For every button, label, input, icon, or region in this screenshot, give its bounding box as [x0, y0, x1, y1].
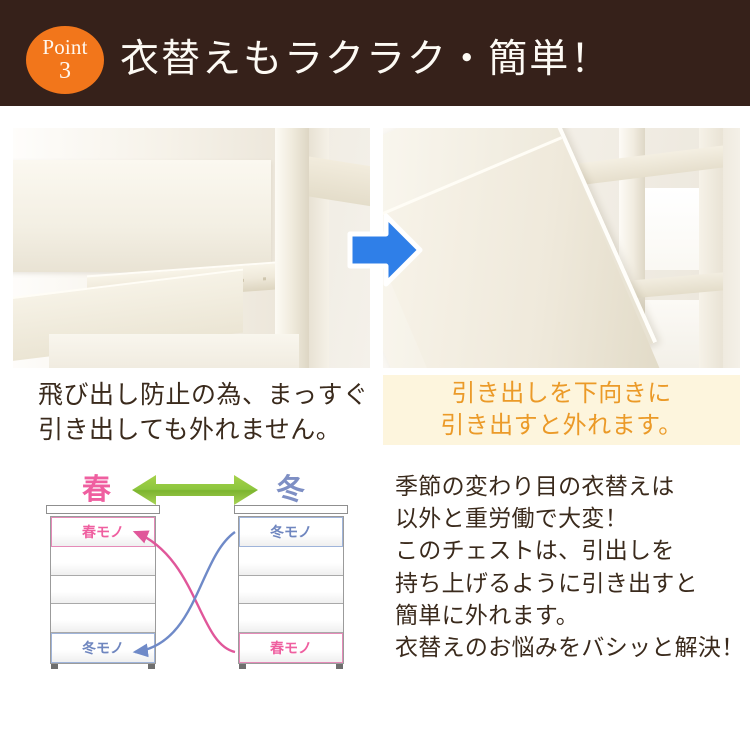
point-badge-number: 3	[59, 59, 71, 83]
season-label-winter: 冬	[276, 466, 305, 508]
drawer-label: 冬モノ	[270, 522, 312, 542]
drawer-row[interactable]: 春モノ	[239, 633, 343, 663]
season-swap-diagram: 春 冬 春モノ	[30, 462, 375, 682]
drawer-row[interactable]: 冬モノ	[239, 517, 343, 547]
drawer-label: 春モノ	[82, 522, 124, 542]
blue-right-arrow-icon	[346, 208, 424, 292]
chest-body: 冬モノ 春モノ	[238, 516, 344, 664]
body-text-line-2: 以外と重労働で大変！	[395, 502, 745, 534]
season-label-spring: 春	[82, 466, 111, 508]
chest-feet	[50, 664, 156, 669]
caption-left: 飛び出し防止の為、まっすぐ 引き出しても外れません。	[38, 378, 378, 447]
chest-spring: 春モノ 冬モノ	[50, 514, 156, 666]
chest-feet	[238, 664, 344, 669]
page-title: 衣替えもラクラク・簡単！	[120, 28, 611, 84]
body-text-line-4: 持ち上げるように引き出すと	[395, 567, 745, 599]
photo-wall	[723, 128, 740, 368]
body-text-line-5: 簡単に外れます。	[395, 599, 745, 631]
point-badge-word: Point	[42, 37, 87, 58]
drawer-label: 冬モノ	[82, 638, 124, 658]
point-banner: Point 3 衣替えもラクラク・簡単！	[0, 0, 750, 106]
caption-left-line-1: 飛び出し防止の為、まっすぐ	[38, 378, 378, 413]
drawer-row[interactable]	[51, 547, 155, 576]
body-text-line-6: 衣替えのお悩みをバシッと解決！	[395, 631, 745, 663]
drawer-row[interactable]	[51, 604, 155, 633]
drawer-tilted-down-photo	[383, 128, 740, 368]
drawer-row[interactable]: 冬モノ	[51, 633, 155, 663]
body-text-line-1: 季節の変わり目の衣替えは	[395, 470, 745, 502]
caption-right-line-2: 引き出すと外れます。	[440, 410, 683, 442]
caption-right-line-1: 引き出しを下向きに	[440, 378, 683, 410]
drawer-pulled-straight-photo	[13, 128, 370, 368]
chest-winter: 冬モノ 春モノ	[238, 514, 344, 666]
body-text: 季節の変わり目の衣替えは 以外と重労働で大変！ このチェストは、引出しを 持ち上…	[395, 470, 745, 663]
chest-body: 春モノ 冬モノ	[50, 516, 156, 664]
drawer-row[interactable]	[239, 604, 343, 633]
caption-right: 引き出しを下向きに 引き出すと外れます。	[440, 378, 683, 442]
chest-top-cap	[234, 505, 348, 514]
point-badge: Point 3	[26, 26, 104, 94]
lower-drawer	[49, 334, 299, 368]
caption-left-line-2: 引き出しても外れません。	[38, 413, 378, 448]
green-double-arrow-icon	[130, 470, 260, 510]
body-text-line-3: このチェストは、引出しを	[395, 534, 745, 566]
frame-opening-upper	[645, 188, 699, 270]
drawer-row[interactable]	[239, 576, 343, 605]
drawer-row[interactable]	[239, 547, 343, 576]
drawer-front-panel	[13, 160, 271, 272]
chest-top-cap	[46, 505, 160, 514]
drawer-row[interactable]: 春モノ	[51, 517, 155, 547]
caption-right-box: 引き出しを下向きに 引き出すと外れます。	[383, 375, 740, 445]
frame-post	[275, 128, 309, 368]
drawer-row[interactable]	[51, 576, 155, 605]
drawer-label: 春モノ	[270, 638, 312, 658]
